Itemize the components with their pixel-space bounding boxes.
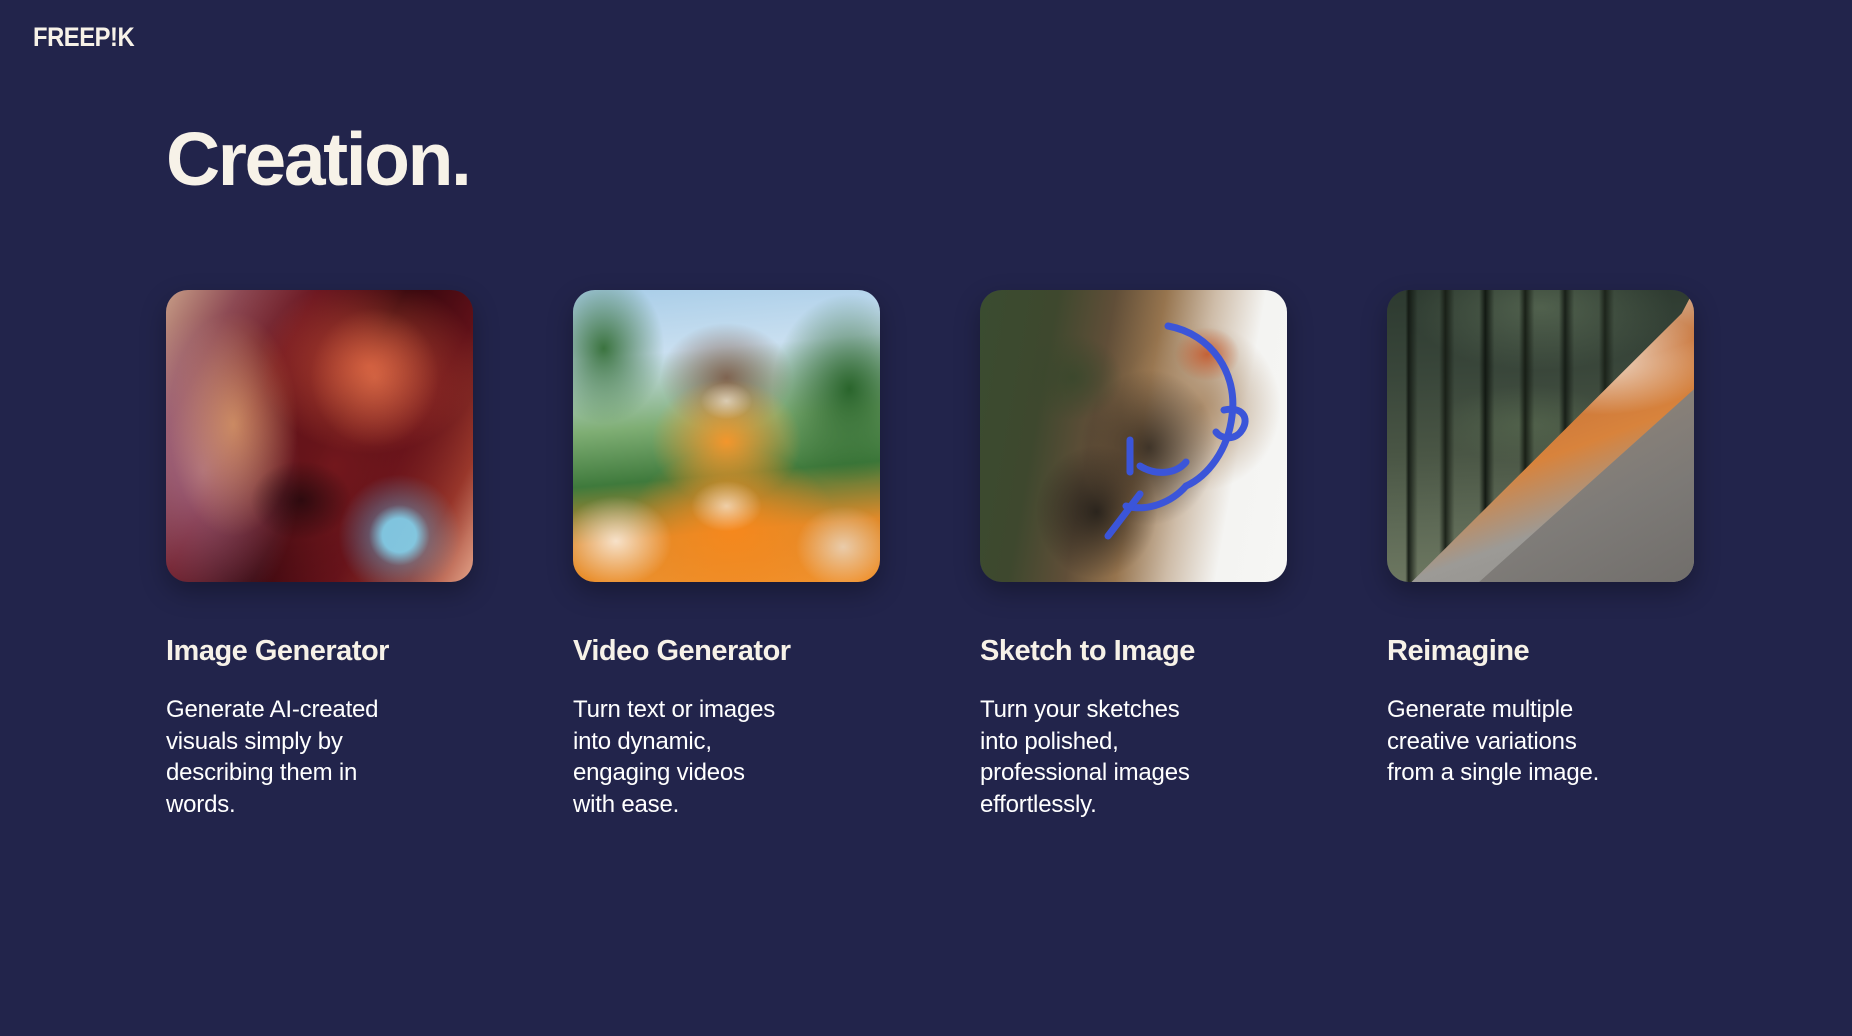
freepik-wordmark: FREEP!K [33, 22, 134, 53]
creation-page: FREEP!K Creation. Image Generator Genera… [0, 0, 1852, 1036]
thumbnail-sketch-to-image[interactable] [980, 290, 1287, 582]
feature-card-reimagine[interactable]: Reimagine Generate multiple creative var… [1387, 290, 1694, 821]
tropical-portrait-image [573, 290, 880, 582]
thumbnail-image-generator[interactable] [166, 290, 473, 582]
feature-card-grid: Image Generator Generate AI-created visu… [166, 290, 1706, 821]
card-description-reimagine: Generate multiple creative variations fr… [1387, 694, 1694, 789]
thumbnail-video-generator[interactable] [573, 290, 880, 582]
card-description-image-generator: Generate AI-created visuals simply by de… [166, 694, 473, 821]
feature-card-sketch-to-image[interactable]: Sketch to Image Turn your sketches into … [980, 290, 1287, 821]
page-title: Creation. [166, 122, 469, 197]
freepik-logo[interactable]: FREEP!K [33, 22, 148, 53]
thumbnail-reimagine[interactable] [1387, 290, 1694, 582]
blue-sketch-overlay-icon [980, 290, 1287, 582]
monkey-sketch-image [980, 290, 1287, 582]
feature-card-image-generator[interactable]: Image Generator Generate AI-created visu… [166, 290, 473, 821]
card-title-reimagine: Reimagine [1387, 636, 1694, 668]
card-title-video-generator: Video Generator [573, 636, 880, 668]
forest-reimagine-image [1387, 290, 1694, 582]
card-description-sketch-to-image: Turn your sketches into polished, profes… [980, 694, 1287, 821]
card-title-sketch-to-image: Sketch to Image [980, 636, 1287, 668]
card-title-image-generator: Image Generator [166, 636, 473, 668]
portrait-image [166, 290, 473, 582]
feature-card-video-generator[interactable]: Video Generator Turn text or images into… [573, 290, 880, 821]
card-description-video-generator: Turn text or images into dynamic, engagi… [573, 694, 880, 821]
